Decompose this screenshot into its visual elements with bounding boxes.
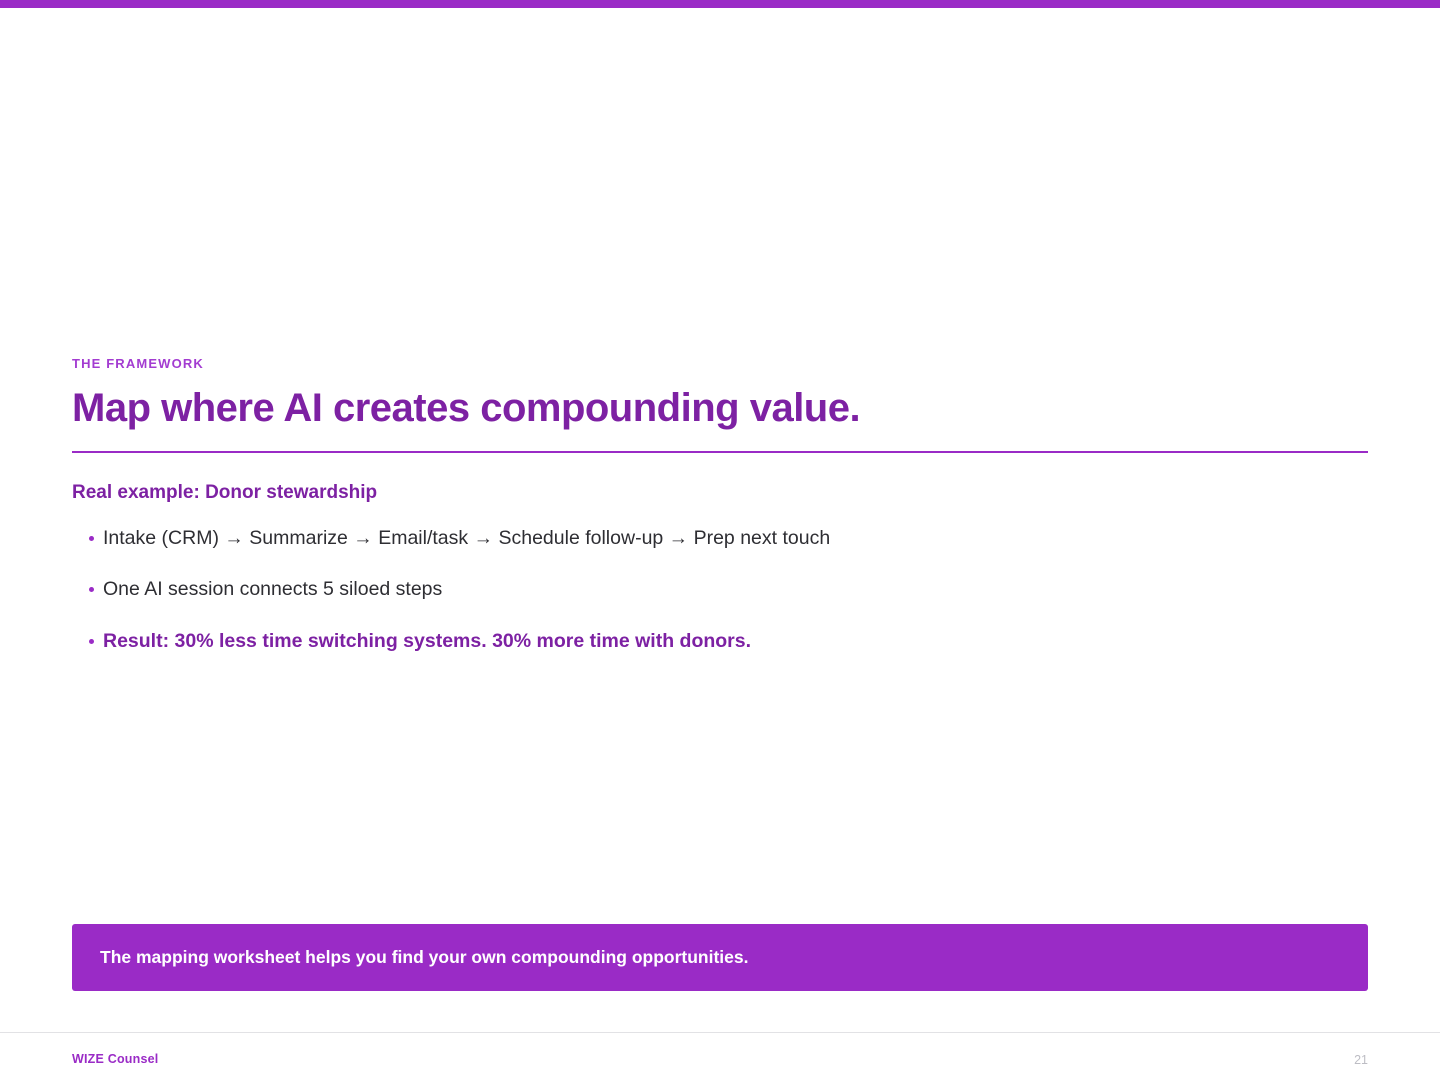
list-item-text: Result: 30% less time switching systems.… [103, 630, 751, 652]
page-number: 21 [1354, 1053, 1368, 1067]
list-item: Intake (CRM) → Summarize → Email/task → … [72, 526, 1368, 551]
list-item-result: Result: 30% less time switching systems.… [72, 629, 1368, 654]
top-accent-bar [0, 0, 1440, 8]
bullet-list: Intake (CRM) → Summarize → Email/task → … [72, 526, 1368, 654]
section-eyebrow-label: THE FRAMEWORK [72, 356, 1368, 372]
slide-canvas: THE FRAMEWORK Map where AI creates compo… [0, 0, 1440, 1080]
footer-brand-label: WIZE Counsel [72, 1052, 158, 1066]
callout-text: The mapping worksheet helps you find you… [100, 946, 748, 969]
page-title: Map where AI creates compounding value. [72, 386, 1368, 431]
list-item: One AI session connects 5 siloed steps [72, 577, 1368, 602]
bullet-dot-icon [89, 536, 94, 541]
bullet-dot-icon [89, 639, 94, 644]
slide-footer: WIZE Counsel 21 [0, 1032, 1440, 1080]
bullet-dot-icon [89, 587, 94, 592]
section-heading: Real example: Donor stewardship [72, 481, 1368, 506]
slide-content: THE FRAMEWORK Map where AI creates compo… [72, 356, 1368, 654]
title-divider [72, 451, 1368, 453]
callout-banner: The mapping worksheet helps you find you… [72, 924, 1368, 991]
list-item-text: One AI session connects 5 siloed steps [103, 578, 442, 600]
list-item-text: Intake (CRM) → Summarize → Email/task → … [103, 527, 830, 549]
